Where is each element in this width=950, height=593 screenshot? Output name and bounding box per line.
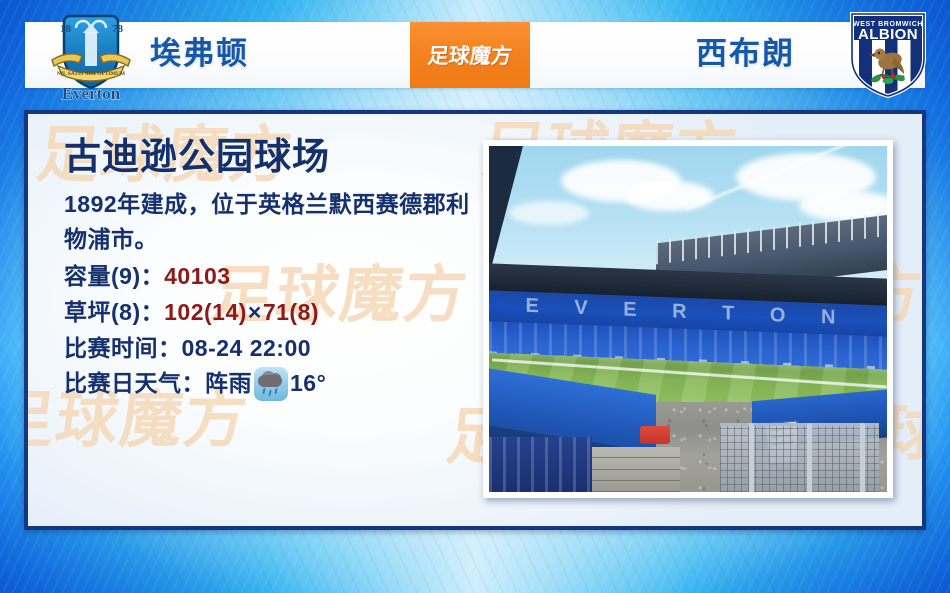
pitch-label: 草坪(8)：	[64, 299, 164, 325]
svg-text:18: 18	[60, 23, 72, 35]
stadium-description: 1892年建成，位于英格兰默西赛德郡利物浦市。	[64, 187, 484, 257]
brand-badge[interactable]: 足球魔方	[410, 22, 530, 88]
everton-crest: NIL SATIS NISI OPTIMUM 18 78 Everton	[40, 4, 142, 104]
pitch-length-value: 102(14)	[164, 299, 247, 325]
weather-row: 比赛日天气：阵雨 16°	[64, 366, 484, 402]
match-time-row: 比赛时间：08-24 22:00	[64, 331, 484, 367]
pitch-row: 草坪(8)：102(14)×71(8)	[64, 295, 484, 331]
stadium-title: 古迪逊公园球场	[64, 136, 484, 177]
home-team-name: 埃弗顿	[150, 28, 249, 73]
capacity-row: 容量(9)：40103	[64, 259, 484, 295]
svg-text:NIL SATIS NISI OPTIMUM: NIL SATIS NISI OPTIMUM	[57, 71, 126, 77]
goodison-park-photo: E V E R T O N	[483, 140, 893, 498]
capacity-label: 容量(9)：	[64, 263, 164, 289]
stadium-info-card: NIL SATIS NISI OPTIMUM 18 78 Everton 埃弗顿…	[0, 0, 950, 593]
west-bromwich-albion-crest: WEST BROMWICH ALBION	[840, 6, 936, 102]
weather-condition: 阵雨	[205, 366, 252, 402]
svg-text:Everton: Everton	[62, 84, 121, 103]
weather-temperature: 16°	[290, 366, 326, 402]
multiply-sign: ×	[247, 299, 263, 325]
away-team-name: 西布朗	[696, 28, 795, 73]
stadium-info-text: 古迪逊公园球场 1892年建成，位于英格兰默西赛德郡利物浦市。 容量(9)：40…	[64, 136, 484, 402]
svg-text:ALBION: ALBION	[858, 26, 918, 43]
rain-shower-icon	[254, 367, 288, 401]
capacity-value: 40103	[164, 263, 230, 289]
pitch-width-value: 71(8)	[263, 299, 319, 325]
brand-label: 足球魔方	[426, 40, 513, 70]
match-time-label: 比赛时间：	[64, 335, 182, 361]
weather-label: 比赛日天气：	[64, 366, 205, 402]
match-time-value: 08-24 22:00	[182, 335, 312, 361]
stadium-panel: 足球魔方 足球魔方 足球魔方 足球魔方 足球魔方 足球魔方 足球魔方 古迪逊公园…	[24, 110, 926, 530]
svg-text:78: 78	[112, 23, 124, 35]
match-header: NIL SATIS NISI OPTIMUM 18 78 Everton 埃弗顿…	[0, 0, 950, 105]
